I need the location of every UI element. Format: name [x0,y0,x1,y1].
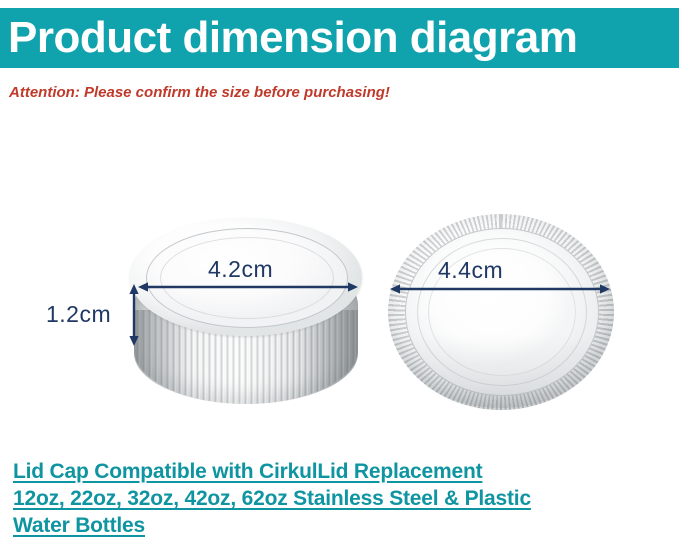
product-title[interactable]: Lid Cap Compatible with CirkulLid Replac… [13,458,673,539]
right-lid-diameter-label: 4.4cm [438,258,503,282]
left-lid-height-label: 1.2cm [46,302,111,326]
page-title: Product dimension diagram [8,15,577,61]
right-lid-image [388,214,614,410]
attention-notice: Attention: Please confirm the size befor… [9,84,390,102]
right-lid-shadow [398,334,604,408]
diameter-arrow-left-lid [138,280,358,294]
product-title-line-3: Water Bottles [13,512,673,539]
product-title-line-1: Lid Cap Compatible with CirkulLid Replac… [13,458,673,485]
diameter-arrow-right-lid [390,282,610,296]
product-title-line-2: 12oz, 22oz, 32oz, 42oz, 62oz Stainless S… [13,485,673,512]
left-lid-diameter-label: 4.2cm [208,257,273,281]
left-lid-image [130,218,362,410]
product-diagram: 4.2cm 1.2cm 4.4cm [0,200,679,430]
header-banner: Product dimension diagram [0,8,679,68]
height-arrow-left-lid [127,284,141,346]
